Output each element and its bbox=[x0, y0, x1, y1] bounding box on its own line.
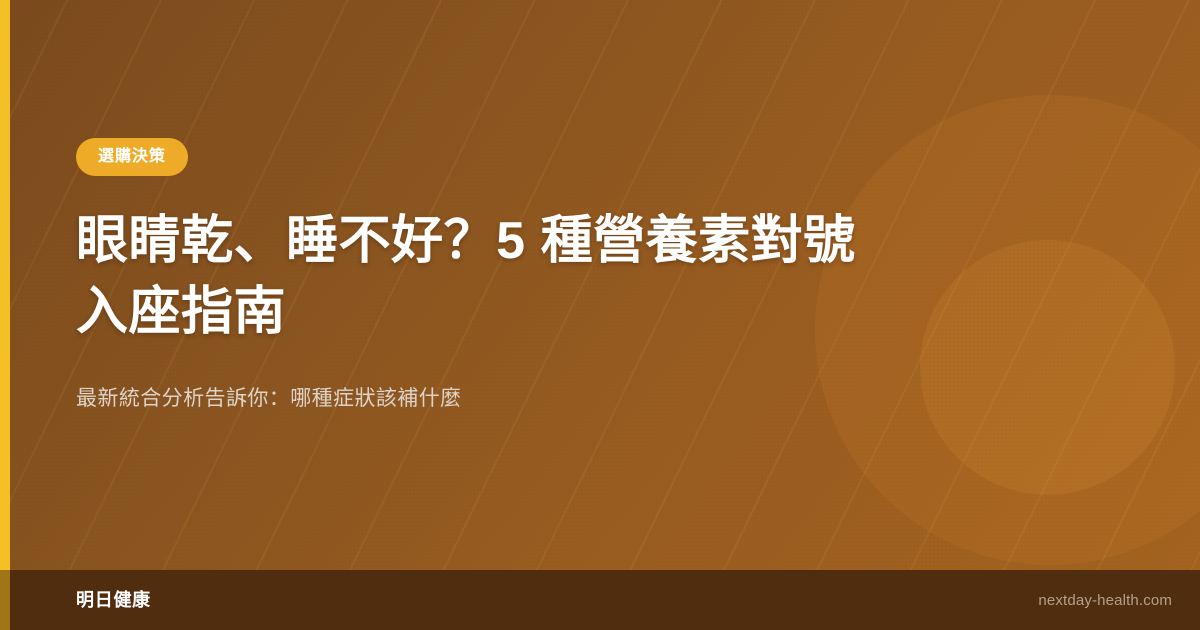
left-accent-bar-footer-shade bbox=[0, 570, 10, 630]
page-subtitle: 最新統合分析告訴你：哪種症狀該補什麼 bbox=[76, 383, 836, 415]
page-title: 眼睛乾、睡不好？5 種營養素對號入座指南 bbox=[76, 206, 876, 350]
footer-brand-name: 明日健康 bbox=[76, 591, 151, 609]
og-share-card: 選購決策 眼睛乾、睡不好？5 種營養素對號入座指南 最新統合分析告訴你：哪種症狀… bbox=[0, 0, 1200, 630]
left-accent-bar bbox=[0, 0, 10, 630]
card-content: 選購決策 眼睛乾、睡不好？5 種營養素對號入座指南 最新統合分析告訴你：哪種症狀… bbox=[76, 0, 1140, 570]
category-badge[interactable]: 選購決策 bbox=[76, 138, 188, 176]
footer-domain-url: nextday-health.com bbox=[1038, 593, 1172, 608]
card-footer: 明日健康 nextday-health.com bbox=[0, 570, 1200, 630]
